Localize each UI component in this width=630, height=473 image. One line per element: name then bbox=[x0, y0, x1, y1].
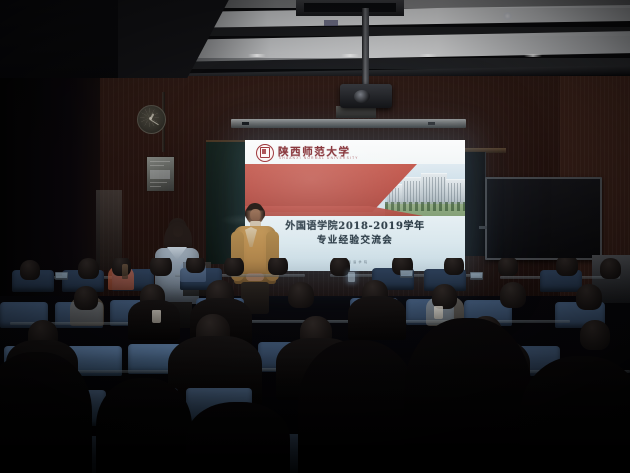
foreground-audience-silhouette bbox=[0, 352, 92, 473]
wall-notice-board bbox=[146, 156, 175, 192]
downlight-icon bbox=[502, 12, 513, 20]
paper-cup bbox=[434, 306, 443, 319]
audience-head bbox=[150, 258, 172, 276]
university-seal-icon bbox=[256, 144, 274, 162]
projector-lens-icon bbox=[354, 90, 370, 103]
audience-head bbox=[186, 258, 205, 273]
projector-mount-plate bbox=[296, 0, 404, 16]
audience-head bbox=[78, 258, 99, 279]
projector-pole bbox=[362, 8, 369, 90]
slide-header-band: 陕西师范大学 SHAANXI NORMAL UNIVERSITY bbox=[245, 140, 465, 164]
bottle bbox=[122, 264, 128, 279]
audience-head bbox=[498, 258, 518, 276]
ceiling-projector bbox=[340, 84, 392, 108]
audience-head bbox=[500, 282, 526, 308]
slot-light bbox=[419, 54, 437, 57]
audience-head bbox=[556, 258, 578, 276]
audience-head bbox=[330, 258, 350, 276]
slot-light bbox=[341, 54, 359, 57]
screen-roller-housing bbox=[231, 119, 466, 128]
university-name-en: SHAANXI NORMAL UNIVERSITY bbox=[279, 156, 359, 160]
paper-cup bbox=[152, 310, 161, 323]
foreground-audience-silhouette bbox=[404, 318, 532, 473]
lecture-hall-scene: 陕西师范大学 SHAANXI NORMAL UNIVERSITY 舒 海 bbox=[0, 0, 630, 473]
roller-knob bbox=[428, 122, 435, 125]
audience-body bbox=[348, 296, 406, 340]
laptop-screen[interactable] bbox=[470, 272, 483, 280]
laptop-screen[interactable] bbox=[400, 270, 413, 278]
slot-light bbox=[248, 54, 266, 57]
ceiling-dark-corner bbox=[0, 0, 118, 78]
audience-head bbox=[20, 260, 40, 280]
slot-light bbox=[524, 54, 542, 57]
foreground-audience-silhouette bbox=[520, 356, 630, 473]
foreground-audience-silhouette bbox=[186, 402, 290, 473]
photo-windows bbox=[448, 183, 463, 202]
photo-windows bbox=[404, 181, 420, 202]
audience-head bbox=[576, 284, 602, 310]
audience-head bbox=[580, 320, 610, 350]
foreground-audience-silhouette bbox=[298, 340, 418, 473]
audience-head bbox=[224, 258, 244, 276]
rolling-blackboard bbox=[485, 177, 602, 260]
wall-clock bbox=[137, 105, 166, 134]
audience-head bbox=[268, 258, 288, 275]
clock-center-pin bbox=[149, 117, 152, 120]
blackboard-arm bbox=[479, 226, 487, 229]
foreground-audience-silhouette bbox=[96, 378, 192, 473]
presenter-hair bbox=[245, 205, 265, 221]
roller-knob bbox=[242, 122, 249, 125]
audience-head bbox=[288, 282, 314, 308]
audience-head bbox=[74, 286, 98, 310]
audience-head bbox=[444, 258, 464, 275]
laptop-screen[interactable] bbox=[55, 272, 68, 280]
phone-screen[interactable] bbox=[348, 272, 355, 282]
photo-windows bbox=[423, 177, 445, 202]
projector-cable-clip bbox=[324, 20, 338, 26]
photo-treeline bbox=[385, 202, 465, 211]
audience-head bbox=[600, 258, 621, 279]
